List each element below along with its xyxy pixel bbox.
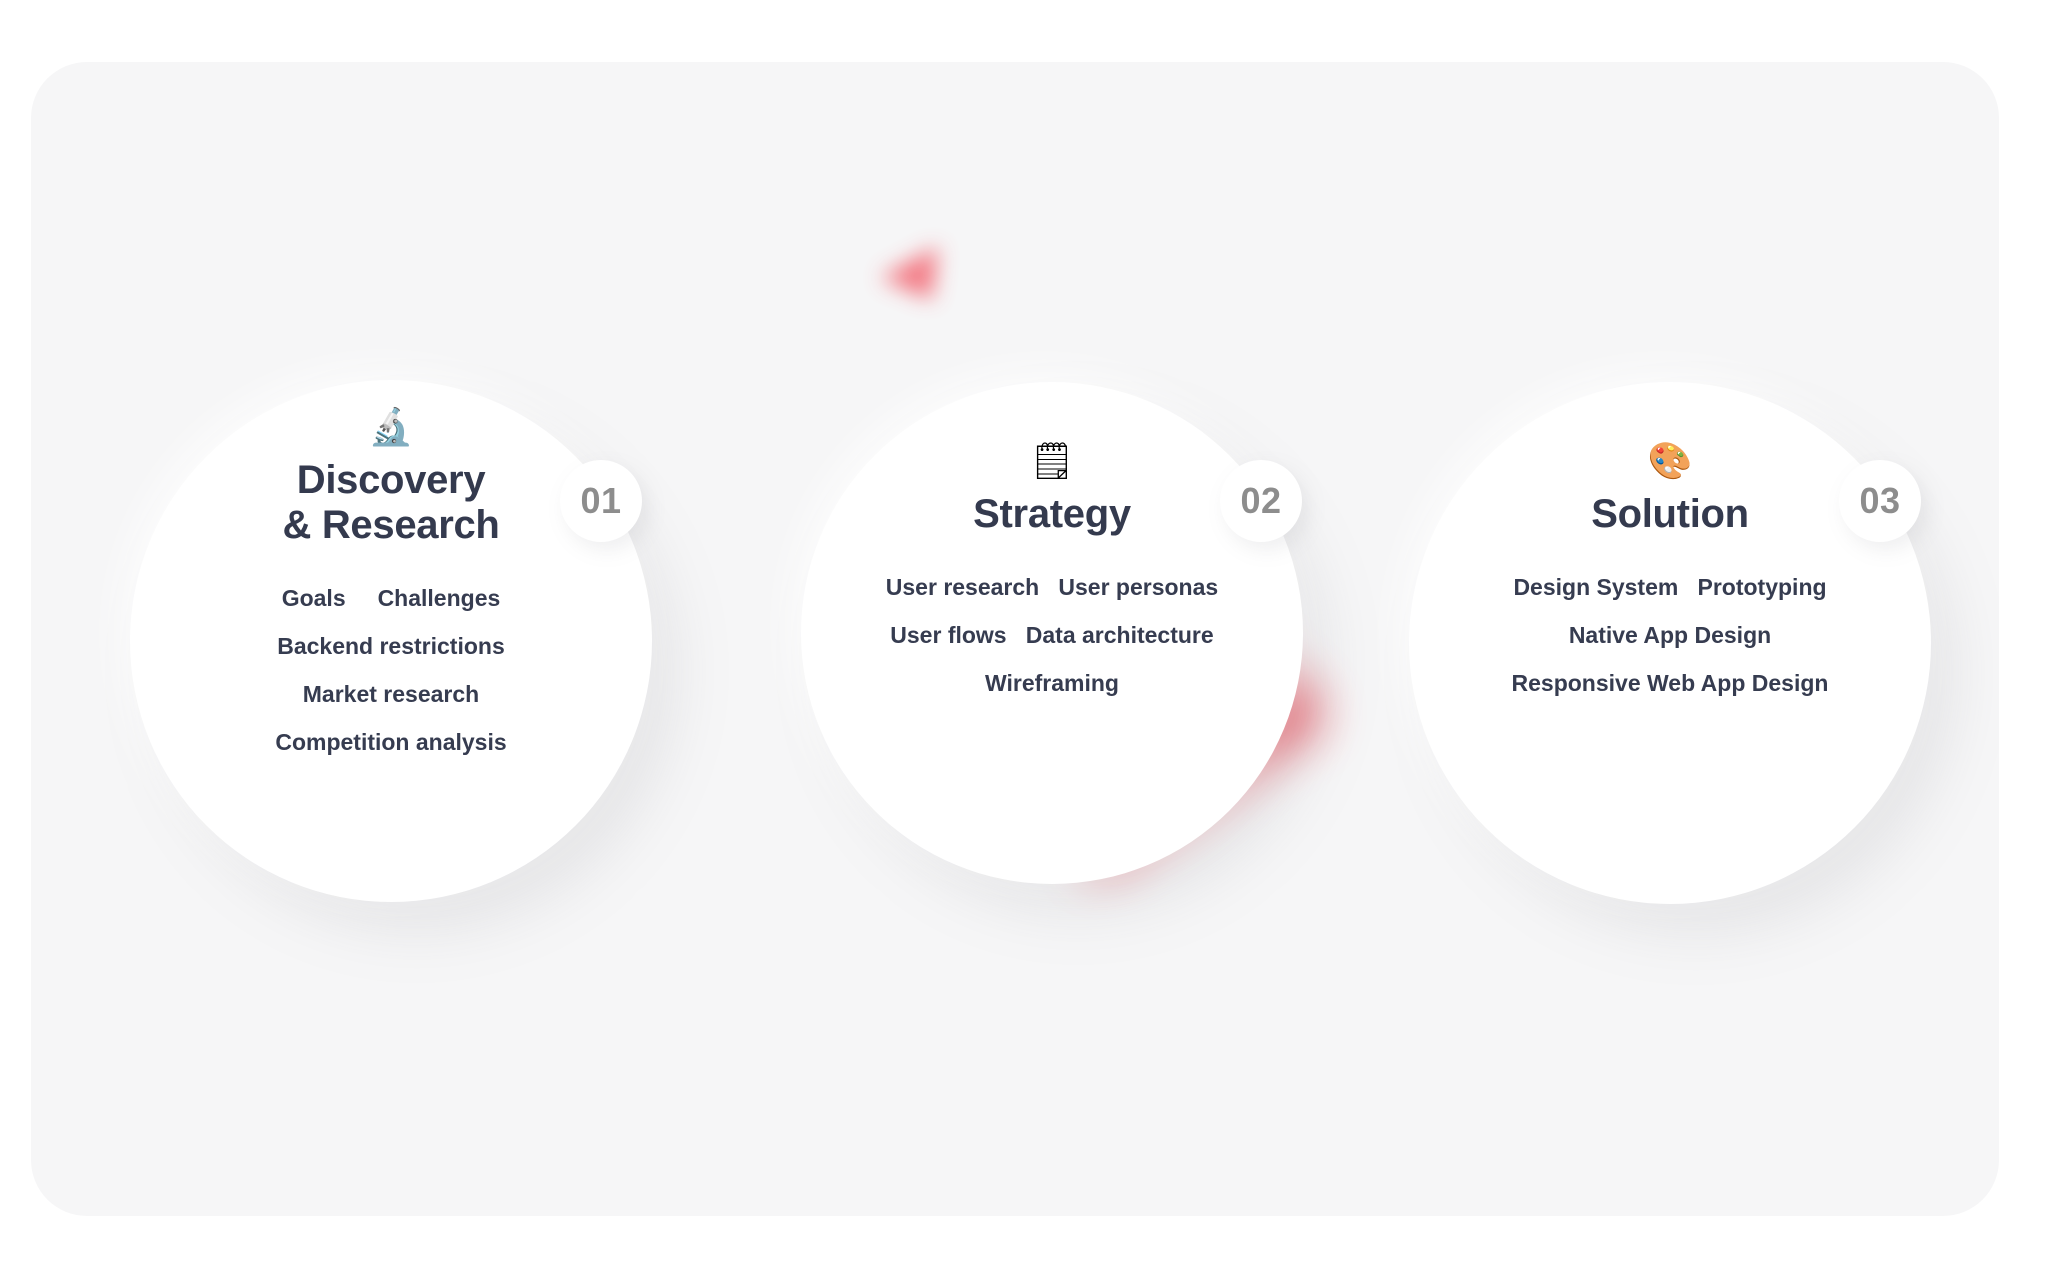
microscope-icon: 🔬 [369, 410, 414, 446]
step-number-badge: 02 [1220, 460, 1302, 542]
list-item: Goals Challenges [275, 574, 506, 622]
card-strategy[interactable]: 🗒 Strategy User research User personas U… [801, 382, 1303, 884]
cards-row: 🔬 Discovery & Research Goals Challenges … [31, 62, 1999, 1216]
card-content: 🎨 Solution Design System Prototyping Nat… [1409, 382, 1931, 904]
panel-background: 🔬 Discovery & Research Goals Challenges … [31, 62, 1999, 1216]
card-title-line: Discovery [282, 458, 499, 503]
card-title: Strategy [973, 492, 1131, 537]
card-title-line: Strategy [973, 492, 1131, 537]
page-with-curl-icon: 🗒 [1029, 444, 1075, 480]
step-number-badge: 01 [560, 460, 642, 542]
list-item: Design System Prototyping [1512, 563, 1829, 611]
list-item: Market research [275, 670, 506, 718]
list-item: Competition analysis [275, 718, 506, 766]
card-content: 🗒 Strategy User research User personas U… [801, 382, 1303, 884]
card-line-list: User research User personas User flows D… [886, 563, 1218, 707]
list-item: Wireframing [886, 659, 1218, 707]
list-item: Backend restrictions [275, 622, 506, 670]
card-title: Discovery & Research [282, 458, 499, 548]
list-item: Responsive Web App Design [1512, 659, 1829, 707]
card-title-line: Solution [1591, 492, 1749, 537]
artist-palette-icon: 🎨 [1648, 444, 1693, 480]
card-title: Solution [1591, 492, 1749, 537]
list-item: Native App Design [1512, 611, 1829, 659]
card-discovery-research[interactable]: 🔬 Discovery & Research Goals Challenges … [130, 380, 652, 902]
step-number-badge: 03 [1839, 460, 1921, 542]
card-line-list: Design System Prototyping Native App Des… [1512, 563, 1829, 707]
card-line-list: Goals Challenges Backend restrictions Ma… [275, 574, 506, 766]
card-solution[interactable]: 🎨 Solution Design System Prototyping Nat… [1409, 382, 1931, 904]
card-title-line: & Research [282, 503, 499, 548]
process-infographic: 🔬 Discovery & Research Goals Challenges … [0, 0, 2048, 1280]
list-item: User flows Data architecture [886, 611, 1218, 659]
card-content: 🔬 Discovery & Research Goals Challenges … [130, 380, 652, 902]
list-item: User research User personas [886, 563, 1218, 611]
